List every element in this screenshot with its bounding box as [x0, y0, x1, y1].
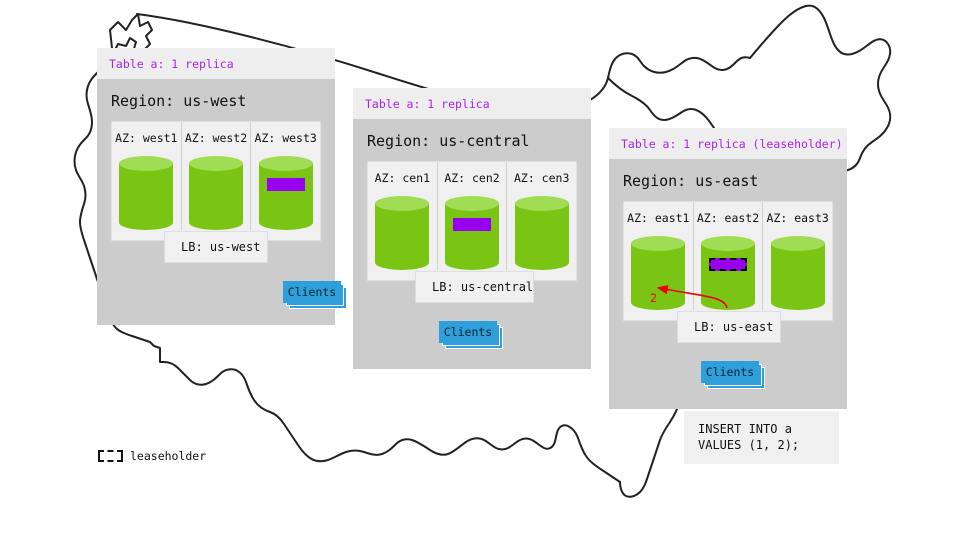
az-label-cen1: AZ: cen1: [368, 171, 437, 185]
cylinder-top-icon: [375, 196, 429, 211]
node-cylinder-west2[interactable]: [189, 156, 243, 230]
cylinder-body-icon: [515, 203, 569, 263]
cylinder-top-icon: [259, 156, 313, 171]
us-gulf-coast: [270, 412, 620, 482]
clients-label[interactable]: Clients: [283, 281, 341, 303]
node-cylinder-east3[interactable]: [771, 236, 825, 310]
node-cylinder-east1[interactable]: [631, 236, 685, 310]
cylinder-top-icon: [119, 156, 173, 171]
az-strip-us-west: AZ: west1 AZ: west2 AZ: west3: [111, 121, 321, 241]
node-cylinder-cen2[interactable]: [445, 196, 499, 270]
us-great-lakes: [608, 78, 730, 135]
panel-caption-us-east: Table a: 1 replica (leaseholder): [609, 128, 847, 159]
az-cell-cen2[interactable]: AZ: cen2: [438, 162, 508, 280]
region-panel-us-east[interactable]: Table a: 1 replica (leaseholder) Region:…: [609, 128, 847, 409]
cylinder-body-icon: [445, 203, 499, 263]
node-cylinder-cen3[interactable]: [515, 196, 569, 270]
replica-block-east2-leaseholder: [709, 258, 747, 271]
replica-block-west3: [267, 178, 305, 191]
cylinder-body-icon: [701, 243, 755, 303]
arrow-step-label: 2: [650, 291, 657, 305]
node-cylinder-west1[interactable]: [119, 156, 173, 230]
cylinder-body-icon: [631, 243, 685, 303]
az-cell-west3[interactable]: AZ: west3: [251, 122, 320, 240]
load-balancer-us-west[interactable]: LB: us-west: [164, 231, 268, 263]
region-title-us-central: Region: us-central: [353, 119, 591, 161]
az-label-east1: AZ: east1: [624, 211, 693, 225]
az-label-cen2: AZ: cen2: [438, 171, 507, 185]
az-cell-east1[interactable]: AZ: east1: [624, 202, 694, 320]
az-cell-east2[interactable]: AZ: east2: [694, 202, 764, 320]
az-label-east2: AZ: east2: [694, 211, 763, 225]
cylinder-body-icon: [375, 203, 429, 263]
replica-block-cen2: [453, 218, 491, 231]
az-cell-east3[interactable]: AZ: east3: [763, 202, 832, 320]
region-panel-us-west[interactable]: Table a: 1 replica Region: us-west AZ: w…: [97, 48, 335, 325]
cylinder-body-icon: [189, 163, 243, 223]
az-cell-cen1[interactable]: AZ: cen1: [368, 162, 438, 280]
az-cell-cen3[interactable]: AZ: cen3: [507, 162, 576, 280]
az-label-west3: AZ: west3: [251, 131, 320, 145]
clients-label[interactable]: Clients: [701, 361, 759, 383]
panel-caption-us-central: Table a: 1 replica: [353, 88, 591, 119]
clients-button-us-central[interactable]: Clients: [439, 321, 503, 347]
az-label-west1: AZ: west1: [112, 131, 181, 145]
leaseholder-swatch-icon: [98, 450, 123, 462]
legend: leaseholder: [98, 449, 206, 463]
cylinder-top-icon: [701, 236, 755, 251]
clients-button-us-east[interactable]: Clients: [701, 361, 765, 387]
panel-caption-us-west: Table a: 1 replica: [97, 48, 335, 79]
cylinder-top-icon: [189, 156, 243, 171]
az-cell-west2[interactable]: AZ: west2: [182, 122, 252, 240]
az-cell-west1[interactable]: AZ: west1: [112, 122, 182, 240]
load-balancer-us-east[interactable]: LB: us-east: [677, 311, 781, 343]
region-title-us-west: Region: us-west: [97, 79, 335, 121]
cylinder-top-icon: [445, 196, 499, 211]
load-balancer-us-central[interactable]: LB: us-central: [415, 271, 534, 303]
cylinder-top-icon: [631, 236, 685, 251]
region-panel-us-central[interactable]: Table a: 1 replica Region: us-central AZ…: [353, 88, 591, 369]
az-label-west2: AZ: west2: [182, 131, 251, 145]
region-title-us-east: Region: us-east: [609, 159, 847, 201]
node-cylinder-east2[interactable]: [701, 236, 755, 310]
node-cylinder-cen1[interactable]: [375, 196, 429, 270]
cylinder-body-icon: [771, 243, 825, 303]
az-label-cen3: AZ: cen3: [507, 171, 576, 185]
az-label-east3: AZ: east3: [763, 211, 832, 225]
node-cylinder-west3[interactable]: [259, 156, 313, 230]
legend-label: leaseholder: [130, 449, 206, 463]
clients-button-us-west[interactable]: Clients: [283, 281, 347, 307]
cylinder-body-icon: [119, 163, 173, 223]
clients-label[interactable]: Clients: [439, 321, 497, 343]
az-strip-us-central: AZ: cen1 AZ: cen2 AZ: cen3: [367, 161, 577, 281]
cylinder-top-icon: [771, 236, 825, 251]
sql-statement-box: INSERT INTO a VALUES (1, 2);: [684, 411, 839, 464]
cylinder-body-icon: [259, 163, 313, 223]
cylinder-top-icon: [515, 196, 569, 211]
